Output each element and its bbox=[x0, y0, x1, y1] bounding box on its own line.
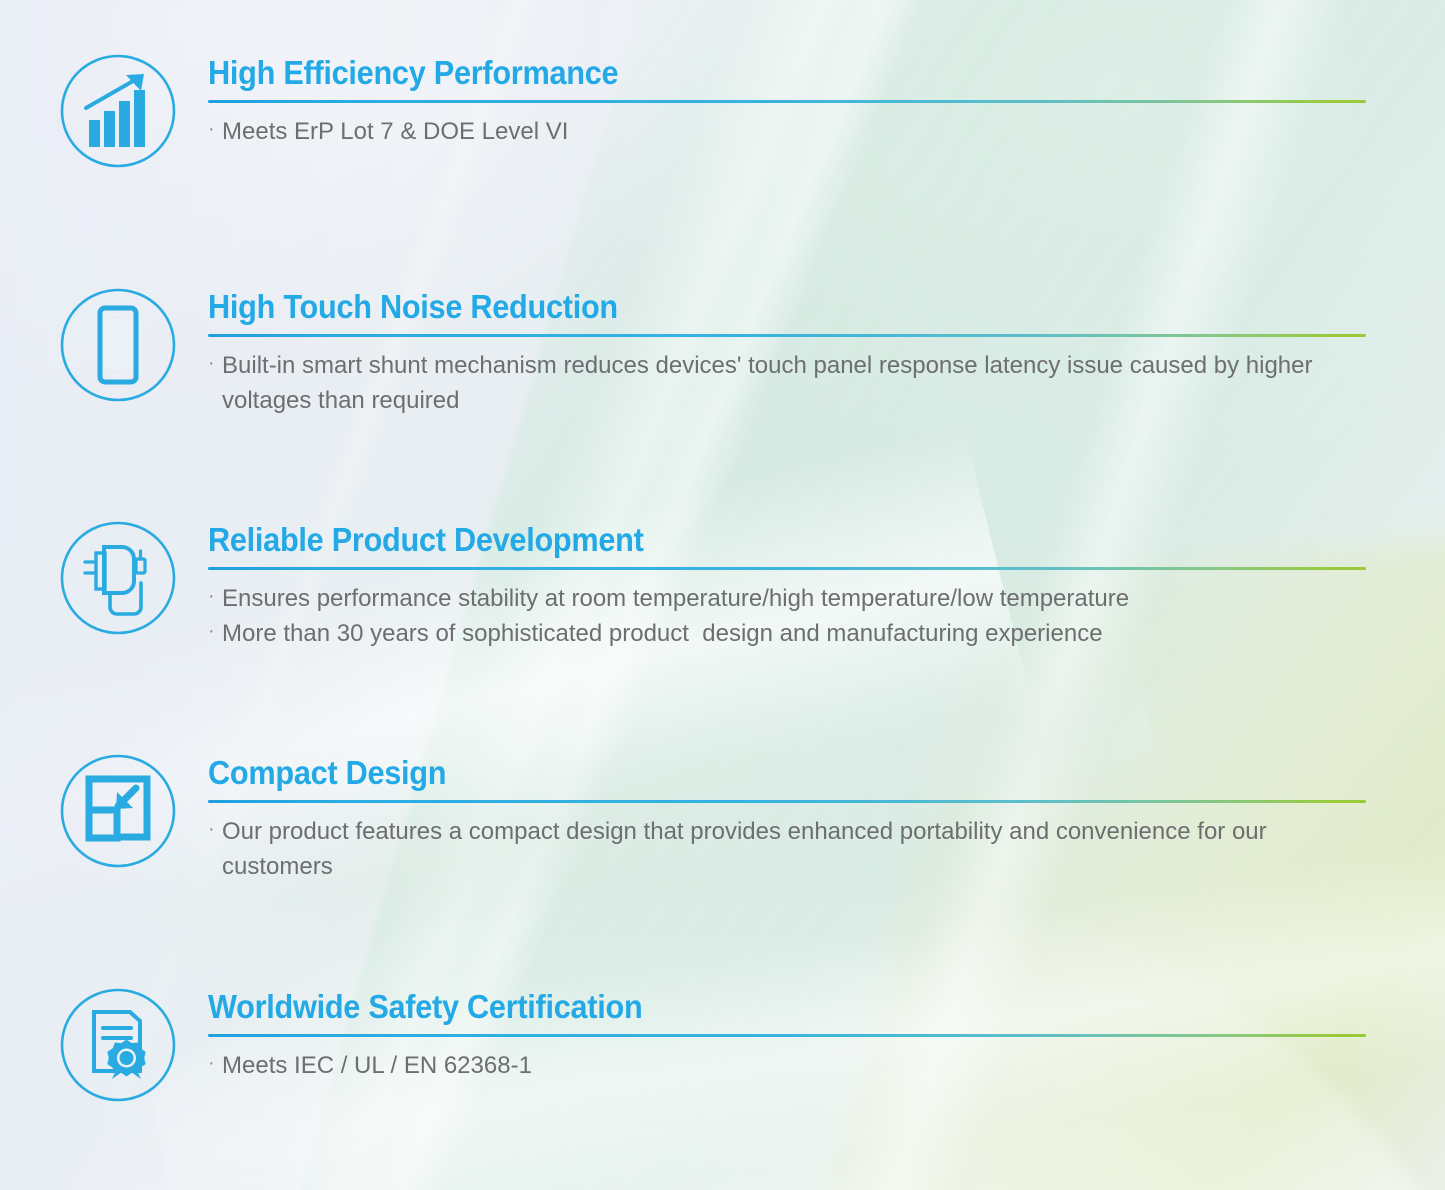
feature-bullet: · More than 30 years of sophisticated pr… bbox=[208, 616, 1368, 651]
feature-bullet: · Built-in smart shunt mechanism reduces… bbox=[208, 348, 1368, 419]
feature-divider bbox=[208, 800, 1366, 803]
feature-bullet: · Ensures performance stability at room … bbox=[208, 581, 1368, 616]
bullet-text: Our product features a compact design th… bbox=[222, 814, 1368, 885]
feature-text-block: High Efficiency Performance · Meets ErP … bbox=[208, 56, 1368, 149]
feature-title: Reliable Product Development bbox=[208, 523, 1287, 558]
feature-title: High Touch Noise Reduction bbox=[208, 290, 1287, 325]
bullet-text: Meets IEC / UL / EN 62368-1 bbox=[222, 1048, 1368, 1083]
smartphone-icon bbox=[56, 286, 180, 404]
bullet-marker: · bbox=[208, 616, 222, 647]
feature-title: High Efficiency Performance bbox=[208, 56, 1287, 91]
bullet-marker: · bbox=[208, 1048, 222, 1079]
bar-chart-growth-icon bbox=[56, 52, 180, 170]
bullet-marker: · bbox=[208, 581, 222, 612]
feature-divider bbox=[208, 1034, 1366, 1037]
feature-bullet: · Our product features a compact design … bbox=[208, 814, 1368, 885]
bullet-text: Ensures performance stability at room te… bbox=[222, 581, 1368, 616]
feature-divider bbox=[208, 334, 1366, 337]
power-adapter-icon bbox=[56, 519, 180, 637]
bullet-text: Built-in smart shunt mechanism reduces d… bbox=[222, 348, 1368, 419]
feature-text-block: Compact Design · Our product features a … bbox=[208, 756, 1368, 884]
compact-resize-icon bbox=[56, 752, 180, 870]
feature-divider bbox=[208, 100, 1366, 103]
bullet-marker: · bbox=[208, 114, 222, 145]
feature-bullet: · Meets ErP Lot 7 & DOE Level VI bbox=[208, 114, 1368, 149]
feature-title: Worldwide Safety Certification bbox=[208, 990, 1287, 1025]
feature-bullet: · Meets IEC / UL / EN 62368-1 bbox=[208, 1048, 1368, 1083]
bullet-text: Meets ErP Lot 7 & DOE Level VI bbox=[222, 114, 1368, 149]
bullet-text: More than 30 years of sophisticated prod… bbox=[222, 616, 1368, 651]
bullet-marker: · bbox=[208, 814, 222, 845]
feature-text-block: High Touch Noise Reduction · Built-in sm… bbox=[208, 290, 1368, 418]
feature-text-block: Reliable Product Development · Ensures p… bbox=[208, 523, 1368, 651]
feature-divider bbox=[208, 567, 1366, 570]
feature-text-block: Worldwide Safety Certification · Meets I… bbox=[208, 990, 1368, 1083]
bullet-marker: · bbox=[208, 348, 222, 379]
feature-title: Compact Design bbox=[208, 756, 1287, 791]
certificate-seal-icon bbox=[56, 986, 180, 1104]
